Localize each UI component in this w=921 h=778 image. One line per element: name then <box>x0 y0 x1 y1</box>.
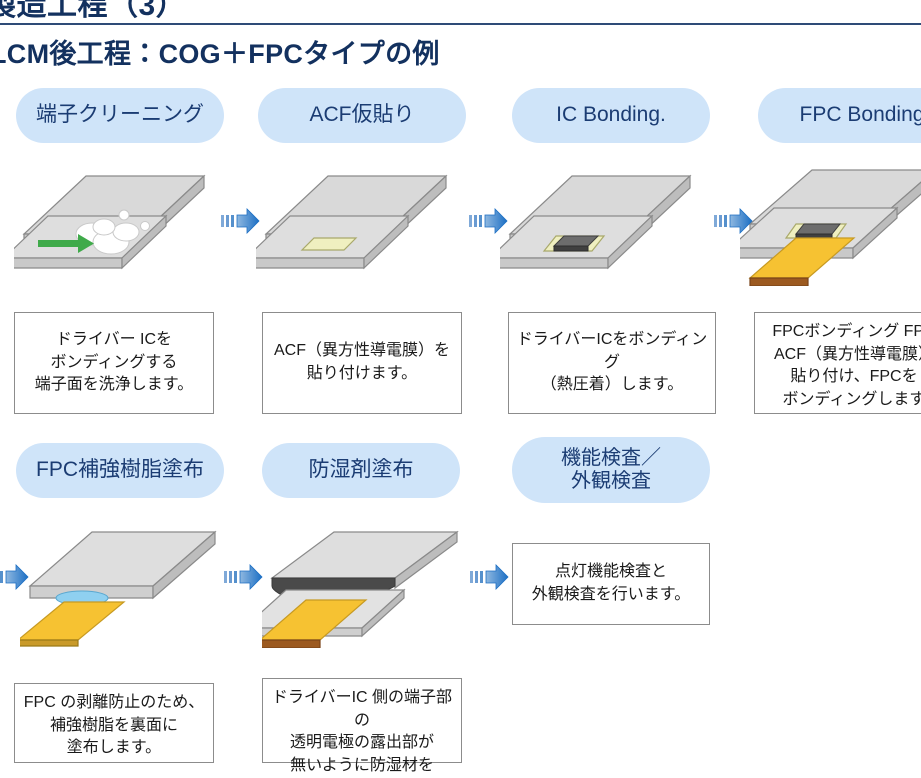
step-label: 機能検査／ 外観検査 <box>561 447 661 493</box>
step-pill-fpc-bonding[interactable]: FPC Bonding <box>758 88 921 143</box>
right-arrow-icon <box>219 206 261 236</box>
illustration-panel-with-cleaning-bubbles <box>14 172 214 277</box>
step-label: FPC補強樹脂塗布 <box>36 458 204 482</box>
right-arrow-icon <box>0 562 30 592</box>
step-description-box: ドライバーIC 側の端子部の 透明電極の露出部が 無いように防湿材を <box>262 678 462 763</box>
step-label: 防湿剤塗布 <box>309 458 414 482</box>
illustration-panel-with-fpc-ribbon <box>740 166 921 286</box>
step-pill-moisture-proof-coating[interactable]: 防湿剤塗布 <box>262 443 460 498</box>
step-description-box: ACF（異方性導電膜）を 貼り付けます。 <box>262 312 462 414</box>
step-description-box: FPCボンディング FPC ACF（異方性導電膜） 貼り付け、FPCを ボンディ… <box>754 312 921 414</box>
step-pill-acf-temporary-bonding[interactable]: ACF仮貼り <box>258 88 466 143</box>
illustration-panel-with-acf-strip <box>256 172 456 277</box>
step-description-box: ドライバー ICを ボンディングする 端子面を洗浄します。 <box>14 312 214 414</box>
step-label: 端子クリーニング <box>36 103 204 127</box>
step-label: IC Bonding. <box>556 103 666 127</box>
step-pill-terminal-cleaning[interactable]: 端子クリーニング <box>16 88 224 143</box>
step-label: FPC Bonding <box>800 103 921 127</box>
page-title: 製造工程（3） <box>0 0 186 24</box>
right-arrow-icon <box>712 206 754 236</box>
title-divider <box>0 23 921 25</box>
page-subtitle: LCM後工程：COG＋FPCタイプの例 <box>0 32 440 71</box>
step-label: ACF仮貼り <box>310 103 415 127</box>
illustration-panel-with-resin-bead <box>20 528 220 648</box>
right-arrow-icon <box>467 206 509 236</box>
right-arrow-icon <box>222 562 264 592</box>
step-description-box: ドライバーICをボンディング （熱圧着）します。 <box>508 312 716 414</box>
illustration-panel-with-ic-chip <box>500 172 700 277</box>
illustration-panel-with-moisture-coating <box>262 528 462 648</box>
step-pill-ic-bonding[interactable]: IC Bonding. <box>512 88 710 143</box>
right-arrow-icon <box>468 562 510 592</box>
step-pill-function-appearance-inspection[interactable]: 機能検査／ 外観検査 <box>512 437 710 503</box>
step-description-box: 点灯機能検査と 外観検査を行います。 <box>512 543 710 625</box>
step-pill-fpc-reinforcement-resin[interactable]: FPC補強樹脂塗布 <box>16 443 224 498</box>
step-description-box: FPC の剥離防止のため、 補強樹脂を裏面に 塗布します。 <box>14 683 214 763</box>
